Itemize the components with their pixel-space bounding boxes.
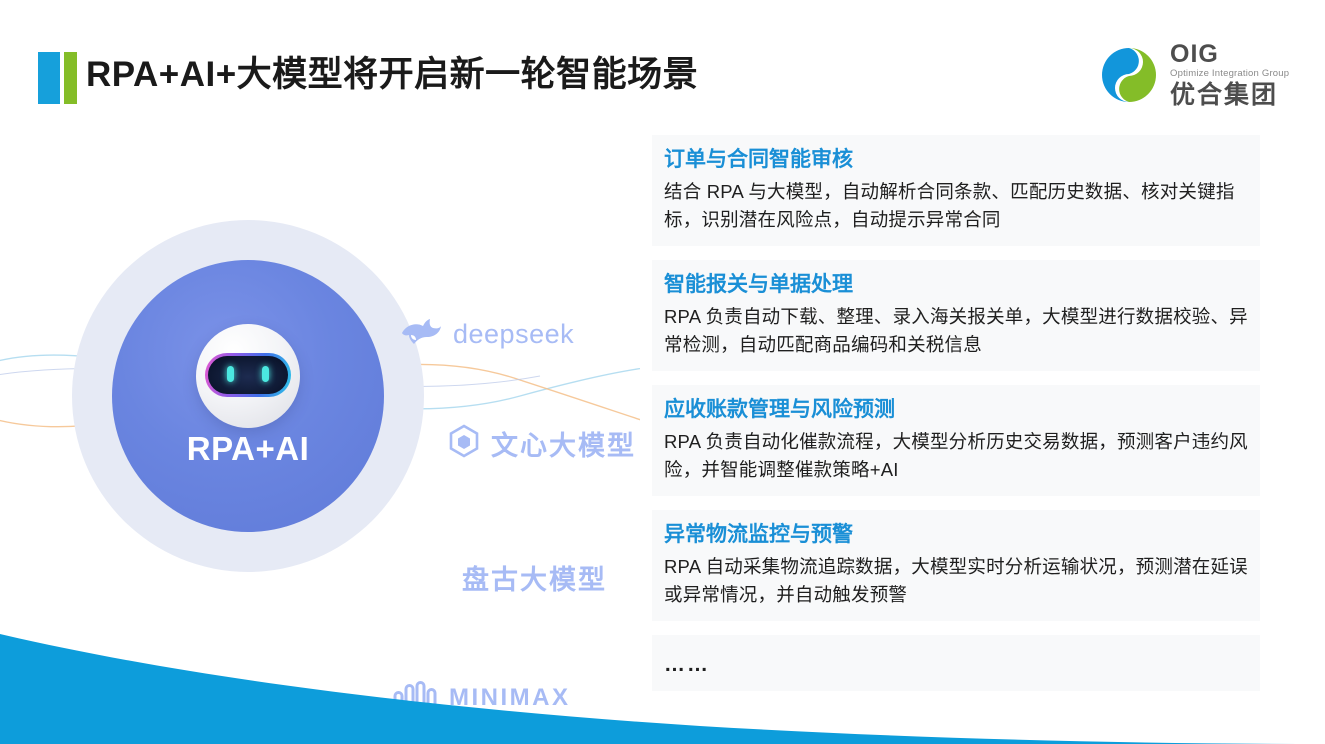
whale-icon: [400, 316, 442, 353]
more-items-indicator: ……: [652, 635, 1260, 691]
header-accent-bar-blue: [38, 52, 60, 104]
feature-card-title: 应收账款管理与风险预测: [664, 395, 1248, 425]
brand-tagline: Optimize Integration Group: [1170, 67, 1289, 81]
robot-eye-right-icon: [262, 366, 269, 382]
slide-header: RPA+AI+大模型将开启新一轮智能场景 OIG Optimize Integr…: [0, 0, 1325, 118]
core-label: RPA+AI: [112, 430, 384, 468]
model-logo-deepseek: deepseek: [400, 316, 574, 353]
feature-card: 订单与合同智能审核 结合 RPA 与大模型，自动解析合同条款、匹配历史数据、核对…: [652, 135, 1260, 246]
robot-visor: [205, 353, 291, 397]
wenxin-cube-icon: [448, 424, 480, 463]
feature-card-body: RPA 负责自动化催款流程，大模型分析历史交易数据，预测客户违约风险，并智能调整…: [664, 428, 1248, 484]
core-visual: RPA+AI deepseek 文心大模型 盘古大模型: [0, 118, 640, 678]
feature-card-body: RPA 自动采集物流追踪数据，大模型实时分析运输状况，预测潜在延误或异常情况，并…: [664, 553, 1248, 609]
header-accent-bar-green: [64, 52, 77, 104]
slide-root: RPA+AI+大模型将开启新一轮智能场景 OIG Optimize Integr…: [0, 0, 1325, 744]
robot-eye-left-icon: [227, 366, 234, 382]
robot-screen: [208, 356, 288, 394]
feature-card-list: 订单与合同智能审核 结合 RPA 与大模型，自动解析合同条款、匹配历史数据、核对…: [652, 135, 1260, 691]
feature-card: 异常物流监控与预警 RPA 自动采集物流追踪数据，大模型实时分析运输状况，预测潜…: [652, 510, 1260, 621]
model-name-label: 文心大模型: [491, 424, 636, 463]
oig-mark-icon: [1098, 44, 1160, 106]
page-title: RPA+AI+大模型将开启新一轮智能场景: [86, 48, 698, 102]
model-logo-pangu: 盘古大模型: [462, 558, 607, 597]
brand-logo: OIG Optimize Integration Group 优合集团: [1098, 42, 1283, 108]
waveform-icon: [392, 680, 438, 715]
feature-card-title: 异常物流监控与预警: [664, 520, 1248, 550]
brand-text-block: OIG Optimize Integration Group 优合集团: [1170, 41, 1289, 109]
feature-card-title: 智能报关与单据处理: [664, 270, 1248, 300]
feature-card: 智能报关与单据处理 RPA 负责自动下载、整理、录入海关报关单，大模型进行数据校…: [652, 260, 1260, 371]
model-logo-wenxin: 文心大模型: [448, 424, 636, 463]
feature-card-body: RPA 负责自动下载、整理、录入海关报关单，大模型进行数据校验、异常检测，自动匹…: [664, 303, 1248, 359]
model-logo-minimax: MINIMAX: [392, 680, 571, 715]
feature-card: 应收账款管理与风险预测 RPA 负责自动化催款流程，大模型分析历史交易数据，预测…: [652, 385, 1260, 496]
robot-avatar-icon: [196, 324, 300, 428]
model-name-label: 盘古大模型: [462, 558, 607, 597]
brand-name-cn: 优合集团: [1170, 81, 1289, 109]
brand-name: OIG: [1170, 41, 1289, 67]
model-name-label: deepseek: [453, 319, 574, 350]
model-name-label: MINIMAX: [449, 684, 571, 712]
feature-card-body: 结合 RPA 与大模型，自动解析合同条款、匹配历史数据、核对关键指标，识别潜在风…: [664, 178, 1248, 234]
feature-card-title: 订单与合同智能审核: [664, 145, 1248, 175]
